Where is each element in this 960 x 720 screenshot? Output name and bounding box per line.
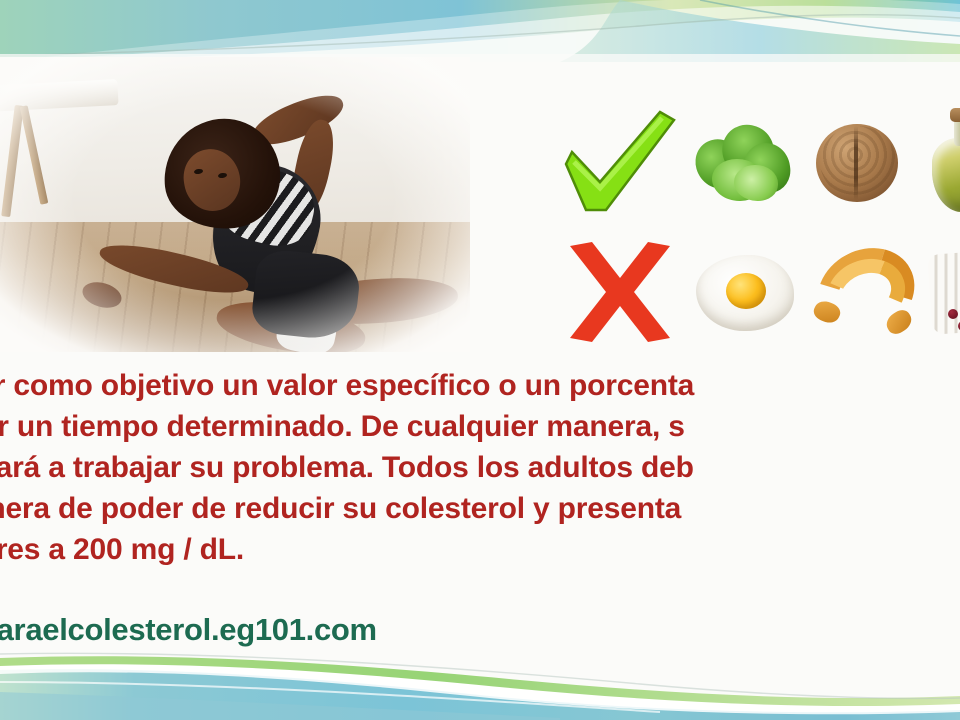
body-paragraph: ede fijar como objetivo un valor específ… (0, 365, 960, 570)
stretching-photo (0, 57, 470, 352)
photo-scene (0, 57, 470, 352)
cured-meats-image (930, 243, 960, 341)
paragraph-line: r la manera de poder de reducir su coles… (0, 488, 960, 529)
red-x-mark-icon (556, 236, 684, 348)
paragraph-line: ede fijar como objetivo un valor específ… (0, 365, 960, 406)
food-guide-panel (556, 96, 960, 358)
video-slide: ede fijar como objetivo un valor específ… (0, 0, 960, 720)
green-check-mark-icon (556, 106, 684, 218)
lettuce-greens-image (690, 121, 794, 203)
website-url[interactable]: agroparaelcolesterol.eg101.com (0, 612, 377, 648)
walnut-image (814, 120, 902, 204)
croissant-image (812, 246, 922, 338)
paragraph-line: s menores a 200 mg / dL. (0, 529, 960, 570)
recommended-foods-row (556, 102, 960, 222)
olive-oil-bottle-image (920, 108, 960, 216)
bottom-decorative-band (0, 652, 960, 720)
photo-vignette (0, 57, 470, 352)
avoid-foods-row (556, 232, 960, 352)
paragraph-line: ción por un tiempo determinado. De cualq… (0, 406, 960, 447)
paragraph-line: lo ayudará a trabajar su problema. Todos… (0, 447, 960, 488)
fried-egg-image (696, 249, 796, 335)
top-decorative-band (0, 0, 960, 62)
